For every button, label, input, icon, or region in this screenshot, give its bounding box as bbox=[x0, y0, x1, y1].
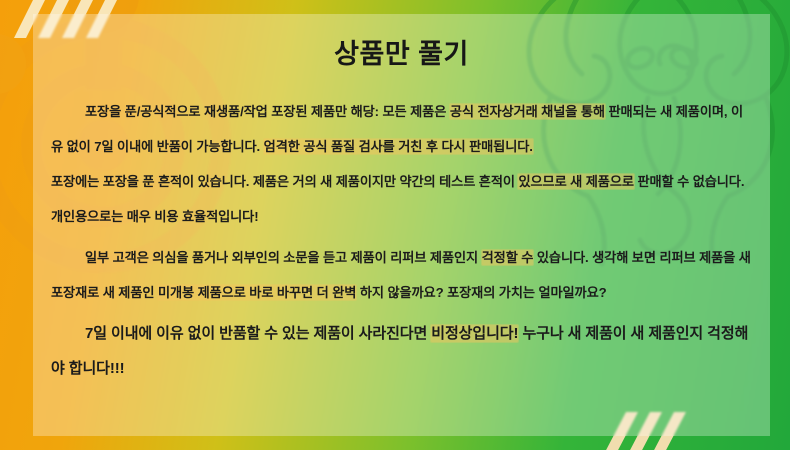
text-run: 하지 않을까요? 포장재의 가치는 얼마일까요? bbox=[356, 285, 606, 300]
highlighted-text-run: 있으므로 새 제품으로 bbox=[518, 174, 633, 189]
promo-poster: 상품만 풀기 포장을 푼/공식적으로 재생품/작업 포장된 제품만 해당: 모든… bbox=[0, 0, 790, 450]
highlighted-text-run: 미개봉 제품으로 바로 바꾸면 더 완벽 bbox=[158, 285, 356, 300]
highlighted-text-run: 엄격한 공식 품질 검사를 거친 후 다시 판매됩니다. bbox=[264, 139, 533, 154]
highlighted-text-run: 걱정할 수 bbox=[482, 250, 534, 265]
text-run: 7일 이내에 이유 없이 반품할 수 있는 제품이 사라진다면 bbox=[85, 325, 431, 342]
page-title: 상품만 풀기 bbox=[51, 14, 752, 72]
highlighted-text-run: 공식 전자상거래 채널을 통해 bbox=[450, 104, 605, 119]
paragraph-scope: 포장을 푼/공식적으로 재생품/작업 포장된 제품만 해당: 모든 제품은 공식… bbox=[51, 94, 752, 164]
content-area: 상품만 풀기 포장을 푼/공식적으로 재생품/작업 포장된 제품만 해당: 모든… bbox=[33, 14, 770, 436]
text-run: 포장에는 포장을 푼 흔적이 있습니다. 제품은 거의 새 제품이지만 약간의 … bbox=[51, 174, 518, 189]
paragraph-concern: 일부 고객은 의심을 품거나 외부인의 소문을 듣고 제품이 리퍼브 제품인지 … bbox=[51, 240, 752, 310]
paragraph-closing: 7일 이내에 이유 없이 반품할 수 있는 제품이 사라진다면 비정상입니다! … bbox=[51, 316, 752, 386]
paragraph-condition: 포장에는 포장을 푼 흔적이 있습니다. 제품은 거의 새 제품이지만 약간의 … bbox=[51, 164, 752, 234]
text-run: 일부 고객은 의심을 품거나 외부인의 소문을 듣고 제품이 리퍼브 제품인지 bbox=[85, 250, 482, 265]
highlighted-text-run: 비정상입니다! bbox=[431, 325, 518, 342]
text-run: 포장을 푼/공식적으로 재생품/작업 포장된 제품만 해당: 모든 제품은 bbox=[85, 104, 450, 119]
